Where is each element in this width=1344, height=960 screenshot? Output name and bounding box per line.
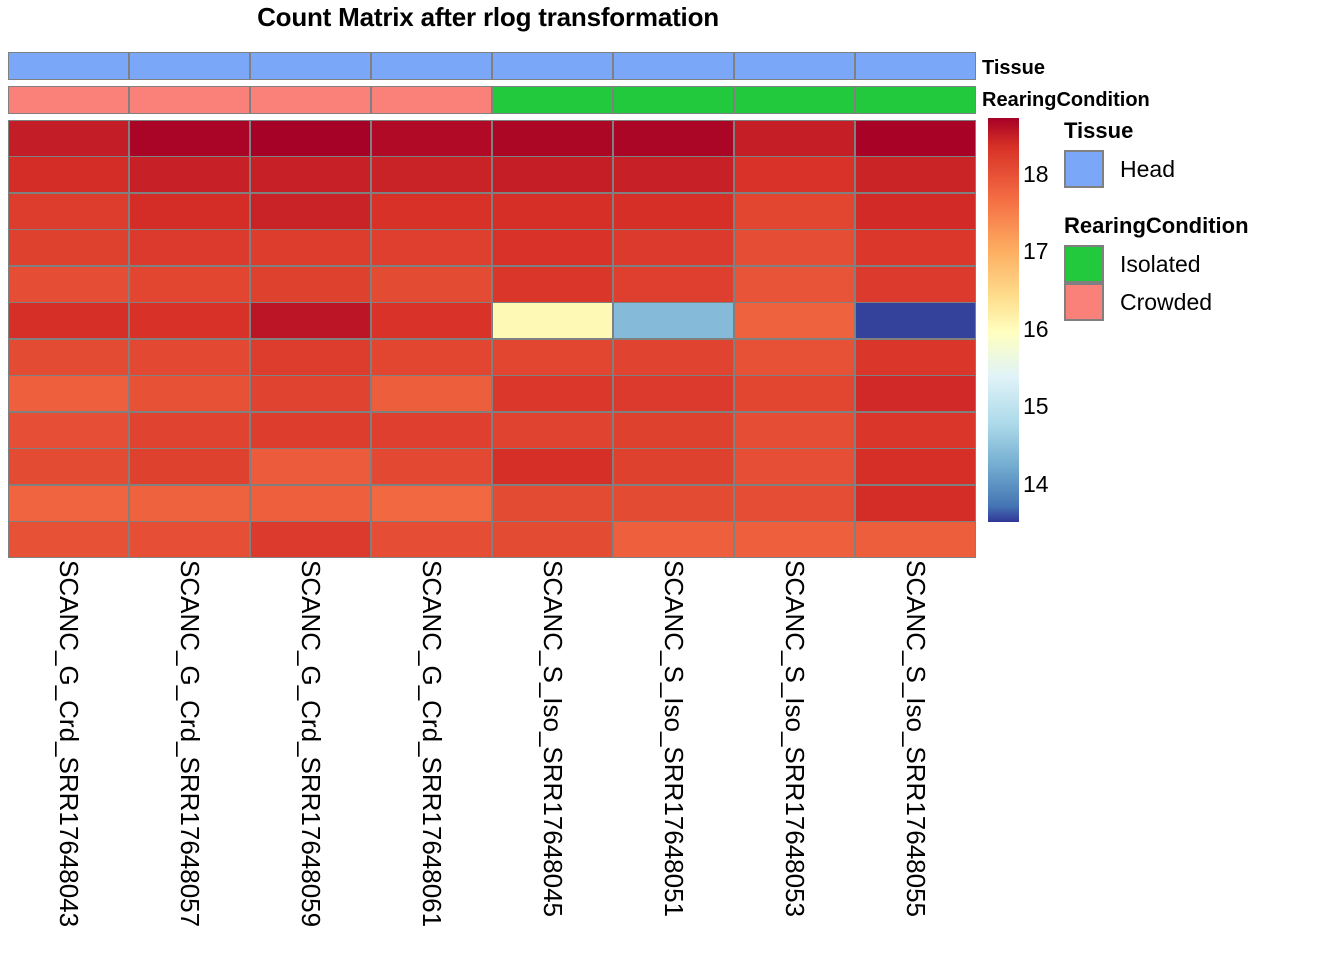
column-label: SCANC_G_Crd_SRR17648059: [298, 560, 324, 927]
heatmap-cell: [372, 303, 491, 338]
heatmap-cell: [614, 121, 733, 156]
heatmap-cell: [372, 413, 491, 448]
heatmap-cell: [493, 230, 612, 265]
heatmap-grid: [8, 120, 976, 558]
column-label: SCANC_G_Crd_SRR17648043: [56, 560, 82, 927]
heatmap-cell: [735, 340, 854, 375]
heatmap-cell: [9, 376, 128, 411]
annotation-cell-tissue: [856, 53, 975, 79]
heatmap-cell: [251, 376, 370, 411]
heatmap-cell: [856, 449, 975, 484]
heatmap-cell: [493, 376, 612, 411]
heatmap-cell: [856, 486, 975, 521]
annotation-label-tissue: Tissue: [982, 56, 1045, 81]
colorbar-tick-label: 17: [1023, 240, 1049, 263]
annotation-cell-rearing-condition: [856, 87, 975, 113]
heatmap-cell: [251, 303, 370, 338]
legend-title-rearing-condition: RearingCondition: [1064, 213, 1249, 239]
heatmap-cell: [372, 194, 491, 229]
heatmap-cell: [614, 486, 733, 521]
annotation-cell-rearing-condition: [372, 87, 491, 113]
heatmap-cell: [251, 449, 370, 484]
legend-swatch-isolated: [1064, 245, 1104, 283]
heatmap-cell: [251, 121, 370, 156]
heatmap-cell: [735, 303, 854, 338]
colorbar-gradient: [988, 118, 1019, 522]
heatmap-cell: [614, 413, 733, 448]
heatmap-cell: [614, 267, 733, 302]
heatmap-cell: [130, 194, 249, 229]
heatmap-cell: [251, 486, 370, 521]
heatmap-cell: [856, 194, 975, 229]
heatmap-cell: [614, 522, 733, 557]
heatmap-cell: [735, 413, 854, 448]
heatmap-cell: [130, 522, 249, 557]
heatmap-cell: [735, 267, 854, 302]
heatmap-cell: [856, 121, 975, 156]
annotation-cell-tissue: [130, 53, 249, 79]
heatmap-cell: [9, 230, 128, 265]
column-label: SCANC_G_Crd_SRR17648061: [419, 560, 445, 927]
column-label-slot: SCANC_S_Iso_SRR17648045: [492, 560, 613, 958]
colorbar-tick-label: 15: [1023, 395, 1049, 418]
column-label-slot: SCANC_G_Crd_SRR17648059: [250, 560, 371, 958]
heatmap-cell: [130, 486, 249, 521]
heatmap-cell: [735, 486, 854, 521]
heatmap-cell: [735, 376, 854, 411]
heatmap-cell: [130, 413, 249, 448]
heatmap-cell: [493, 121, 612, 156]
heatmap-cell: [735, 230, 854, 265]
legend-swatch-head: [1064, 150, 1104, 188]
heatmap-cell: [130, 267, 249, 302]
heatmap-cell: [856, 413, 975, 448]
heatmap-cell: [493, 303, 612, 338]
heatmap-cell: [614, 230, 733, 265]
heatmap-cell: [735, 449, 854, 484]
heatmap-cell: [735, 157, 854, 192]
column-label: SCANC_S_Iso_SRR17648051: [661, 560, 687, 917]
heatmap-cell: [614, 340, 733, 375]
annotation-cell-rearing-condition: [735, 87, 854, 113]
heatmap-cell: [735, 121, 854, 156]
heatmap-cell: [251, 267, 370, 302]
column-label-slot: SCANC_G_Crd_SRR17648043: [8, 560, 129, 958]
column-label-slot: SCANC_G_Crd_SRR17648057: [129, 560, 250, 958]
heatmap-cell: [856, 157, 975, 192]
annotation-cell-rearing-condition: [493, 87, 612, 113]
heatmap-cell: [9, 340, 128, 375]
legend-label-isolated: Isolated: [1120, 251, 1201, 278]
column-label: SCANC_S_Iso_SRR17648045: [540, 560, 566, 917]
legend-entry-head: Head: [1064, 150, 1175, 188]
heatmap-cell: [9, 267, 128, 302]
colorbar-tick-label: 18: [1023, 163, 1049, 186]
heatmap-cell: [130, 340, 249, 375]
heatmap-cell: [372, 230, 491, 265]
heatmap-cell: [9, 413, 128, 448]
heatmap-cell: [130, 376, 249, 411]
legend-label-crowded: Crowded: [1120, 289, 1212, 316]
heatmap-cell: [856, 376, 975, 411]
heatmap-cell: [614, 194, 733, 229]
heatmap-cell: [493, 449, 612, 484]
annotation-cell-tissue: [251, 53, 370, 79]
annotation-cell-rearing-condition: [130, 87, 249, 113]
annotation-cell-tissue: [614, 53, 733, 79]
heatmap-cell: [372, 522, 491, 557]
heatmap-cell: [493, 194, 612, 229]
column-labels: SCANC_G_Crd_SRR17648043SCANC_G_Crd_SRR17…: [8, 560, 976, 958]
heatmap-cell: [372, 486, 491, 521]
heatmap-cell: [614, 449, 733, 484]
colorbar-tick-label: 14: [1023, 473, 1049, 496]
heatmap-cell: [251, 340, 370, 375]
heatmap-cell: [372, 376, 491, 411]
heatmap-cell: [614, 303, 733, 338]
heatmap-cell: [493, 522, 612, 557]
heatmap-cell: [372, 157, 491, 192]
heatmap-cell: [856, 230, 975, 265]
column-label-slot: SCANC_S_Iso_SRR17648051: [613, 560, 734, 958]
heatmap-cell: [9, 121, 128, 156]
heatmap-cell: [9, 194, 128, 229]
column-label-slot: SCANC_G_Crd_SRR17648061: [371, 560, 492, 958]
annotation-cell-rearing-condition: [251, 87, 370, 113]
column-label: SCANC_S_Iso_SRR17648055: [903, 560, 929, 917]
column-label-slot: SCANC_S_Iso_SRR17648055: [855, 560, 976, 958]
legend-label-head: Head: [1120, 156, 1175, 183]
heatmap-cell: [372, 121, 491, 156]
heatmap-cell: [9, 449, 128, 484]
heatmap-cell: [493, 267, 612, 302]
annotation-cell-tissue: [735, 53, 854, 79]
column-label: SCANC_S_Iso_SRR17648053: [782, 560, 808, 917]
heatmap-cell: [9, 157, 128, 192]
legend-entry-crowded: Crowded: [1064, 283, 1212, 321]
heatmap-cell: [130, 303, 249, 338]
heatmap-cell: [251, 194, 370, 229]
legend-entry-isolated: Isolated: [1064, 245, 1201, 283]
heatmap-cell: [251, 157, 370, 192]
heatmap-cell: [493, 157, 612, 192]
heatmap-cell: [9, 303, 128, 338]
heatmap-cell: [856, 522, 975, 557]
annotation-label-rearing-condition: RearingCondition: [982, 88, 1150, 113]
annotation-cell-rearing-condition: [9, 87, 128, 113]
heatmap-cell: [130, 121, 249, 156]
heatmap-cell: [493, 486, 612, 521]
annotation-cell-tissue: [9, 53, 128, 79]
annotation-bar-tissue: [8, 52, 976, 80]
heatmap-cell: [251, 230, 370, 265]
annotation-bar-rearing-condition: [8, 86, 976, 114]
heatmap-cell: [735, 194, 854, 229]
heatmap-cell: [614, 376, 733, 411]
column-label-slot: SCANC_S_Iso_SRR17648053: [734, 560, 855, 958]
heatmap-cell: [614, 157, 733, 192]
heatmap-cell: [372, 267, 491, 302]
legend-title-tissue: Tissue: [1064, 118, 1133, 144]
legend-swatch-crowded: [1064, 283, 1104, 321]
heatmap-cell: [9, 522, 128, 557]
column-label: SCANC_G_Crd_SRR17648057: [177, 560, 203, 927]
heatmap-cell: [130, 449, 249, 484]
heatmap-cell: [130, 230, 249, 265]
heatmap-cell: [493, 340, 612, 375]
heatmap-cell: [735, 522, 854, 557]
annotation-cell-tissue: [372, 53, 491, 79]
heatmap-cell: [9, 486, 128, 521]
heatmap-cell: [251, 413, 370, 448]
heatmap-cell: [251, 522, 370, 557]
heatmap-cell: [856, 340, 975, 375]
heatmap-cell: [856, 267, 975, 302]
colorbar-tick-label: 16: [1023, 318, 1049, 341]
heatmap-cell: [856, 303, 975, 338]
heatmap-cell: [493, 413, 612, 448]
annotation-cell-rearing-condition: [614, 87, 733, 113]
page-title: Count Matrix after rlog transformation: [0, 2, 976, 33]
heatmap-cell: [372, 449, 491, 484]
heatmap-cell: [372, 340, 491, 375]
annotation-cell-tissue: [493, 53, 612, 79]
heatmap-cell: [130, 157, 249, 192]
